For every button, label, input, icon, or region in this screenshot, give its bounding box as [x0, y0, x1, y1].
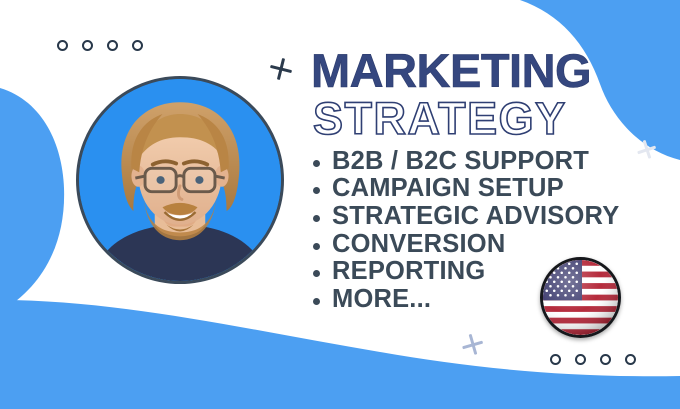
list-item: B2B / B2C SUPPORT	[311, 148, 661, 176]
list-item: STRATEGIC ADVISORY	[311, 203, 661, 231]
dot-ring-icon	[575, 354, 586, 365]
list-item-label: STRATEGIC ADVISORY	[332, 202, 619, 230]
dot-ring-icon	[550, 354, 561, 365]
page-subtitle: STRATEGY	[313, 96, 661, 141]
list-item-label: MORE...	[332, 285, 431, 313]
dot-ring-icon	[107, 40, 118, 51]
dot-ring-icon	[600, 354, 611, 365]
list-item-label: REPORTING	[332, 257, 485, 285]
list-item-label: B2B / B2C SUPPORT	[332, 147, 589, 175]
avatar	[76, 76, 284, 284]
marketing-strategy-banner: MARKETING STRATEGY B2B / B2C SUPPORT CAM…	[0, 0, 680, 409]
list-item: CAMPAIGN SETUP	[311, 175, 661, 203]
dot-ring-icon	[82, 40, 93, 51]
dot-row-top-left	[57, 40, 143, 51]
list-item: CONVERSION	[311, 231, 661, 259]
page-title: MARKETING	[311, 48, 661, 94]
dot-row-bottom-right	[550, 354, 636, 365]
usa-flag-icon	[540, 257, 621, 338]
dot-ring-icon	[57, 40, 68, 51]
dot-ring-icon	[132, 40, 143, 51]
list-item-label: CONVERSION	[332, 230, 505, 258]
dot-ring-icon	[625, 354, 636, 365]
list-item-label: CAMPAIGN SETUP	[332, 174, 564, 202]
